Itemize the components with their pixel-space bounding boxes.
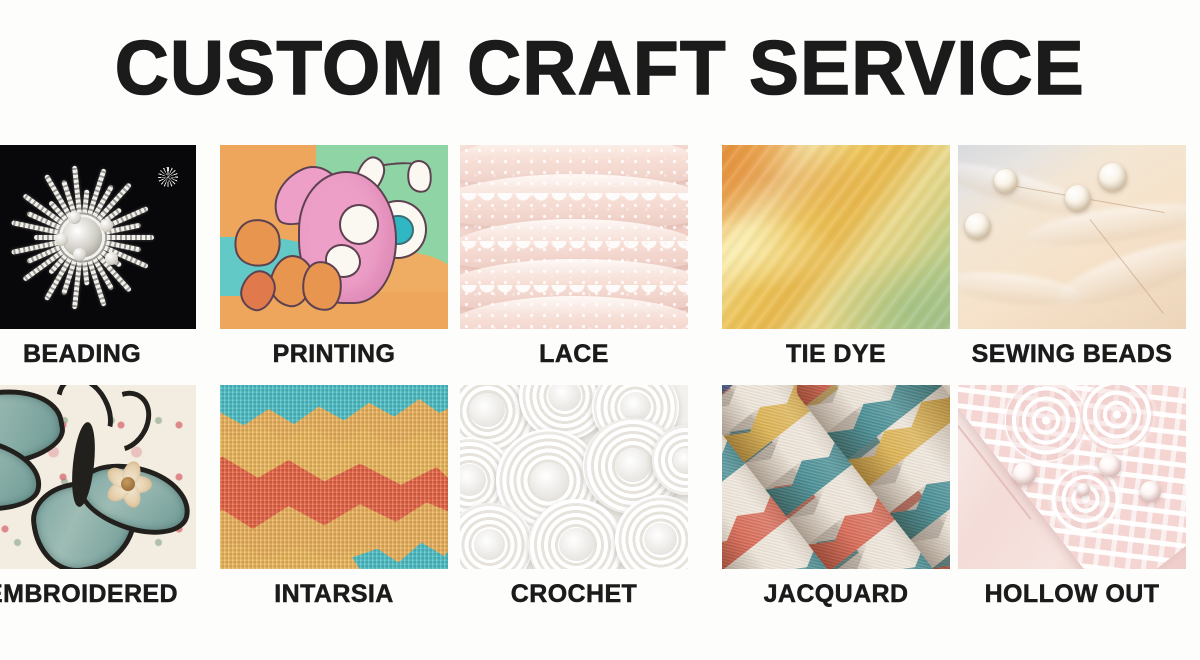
craft-thumbnail-embroidered[interactable]	[0, 385, 196, 569]
craft-thumbnail-lace[interactable]	[460, 145, 688, 329]
craft-grid-row: BEADING	[0, 145, 1200, 385]
craft-label-crochet: CROCHET	[460, 581, 688, 607]
page-title: CUSTOM CRAFT SERVICE	[115, 31, 1085, 107]
craft-label-embroidered: EMBROIDERED	[0, 581, 196, 607]
intarsia-artwork	[220, 385, 448, 569]
craft-item-lace[interactable]: LACE	[460, 145, 688, 367]
embroidered-artwork	[0, 385, 196, 569]
craft-item-beading[interactable]: BEADING	[0, 145, 196, 367]
craft-item-embroidered[interactable]: EMBROIDERED	[0, 385, 196, 607]
craft-item-printing[interactable]: PRINTING	[220, 145, 448, 367]
beading-artwork	[0, 145, 196, 329]
craft-grid-row: EMBROIDERED INTARSIA	[0, 385, 1200, 625]
craft-grid: BEADING	[0, 145, 1200, 625]
lace-artwork	[460, 145, 688, 329]
craft-item-crochet[interactable]: CROCHET	[460, 385, 688, 607]
craft-label-tie-dye: TIE DYE	[722, 341, 950, 367]
craft-thumbnail-hollow-out[interactable]	[958, 385, 1186, 569]
page-title-container: CUSTOM CRAFT SERVICE	[0, 26, 1200, 112]
craft-label-hollow-out: HOLLOW OUT	[958, 581, 1186, 607]
craft-label-intarsia: INTARSIA	[220, 581, 448, 607]
craft-label-sewing-beads: SEWING BEADS	[958, 341, 1186, 367]
craft-label-jacquard: JACQUARD	[722, 581, 950, 607]
craft-label-printing: PRINTING	[220, 341, 448, 367]
sewing-beads-artwork	[958, 145, 1186, 329]
craft-item-sewing-beads[interactable]: SEWING BEADS	[958, 145, 1186, 367]
hollow-out-lace-panel	[958, 385, 1186, 569]
hollow-out-artwork	[958, 385, 1186, 569]
craft-label-beading: BEADING	[0, 341, 196, 367]
craft-thumbnail-intarsia[interactable]	[220, 385, 448, 569]
printing-artwork	[220, 145, 448, 329]
craft-thumbnail-crochet[interactable]	[460, 385, 688, 569]
crochet-artwork	[460, 385, 688, 569]
tie-dye-artwork	[722, 145, 950, 329]
craft-thumbnail-printing[interactable]	[220, 145, 448, 329]
craft-item-jacquard[interactable]: JACQUARD	[722, 385, 950, 607]
craft-thumbnail-jacquard[interactable]	[722, 385, 950, 569]
custom-craft-service-banner: CUSTOM CRAFT SERVICE	[0, 0, 1200, 660]
embroidered-flower	[93, 451, 161, 517]
jacquard-artwork	[722, 385, 950, 569]
craft-item-hollow-out[interactable]: HOLLOW OUT	[958, 385, 1186, 607]
craft-item-tie-dye[interactable]: TIE DYE	[722, 145, 950, 367]
craft-item-intarsia[interactable]: INTARSIA	[220, 385, 448, 607]
craft-label-lace: LACE	[460, 341, 688, 367]
craft-thumbnail-tie-dye[interactable]	[722, 145, 950, 329]
craft-thumbnail-beading[interactable]	[0, 145, 196, 329]
craft-thumbnail-sewing-beads[interactable]	[958, 145, 1186, 329]
